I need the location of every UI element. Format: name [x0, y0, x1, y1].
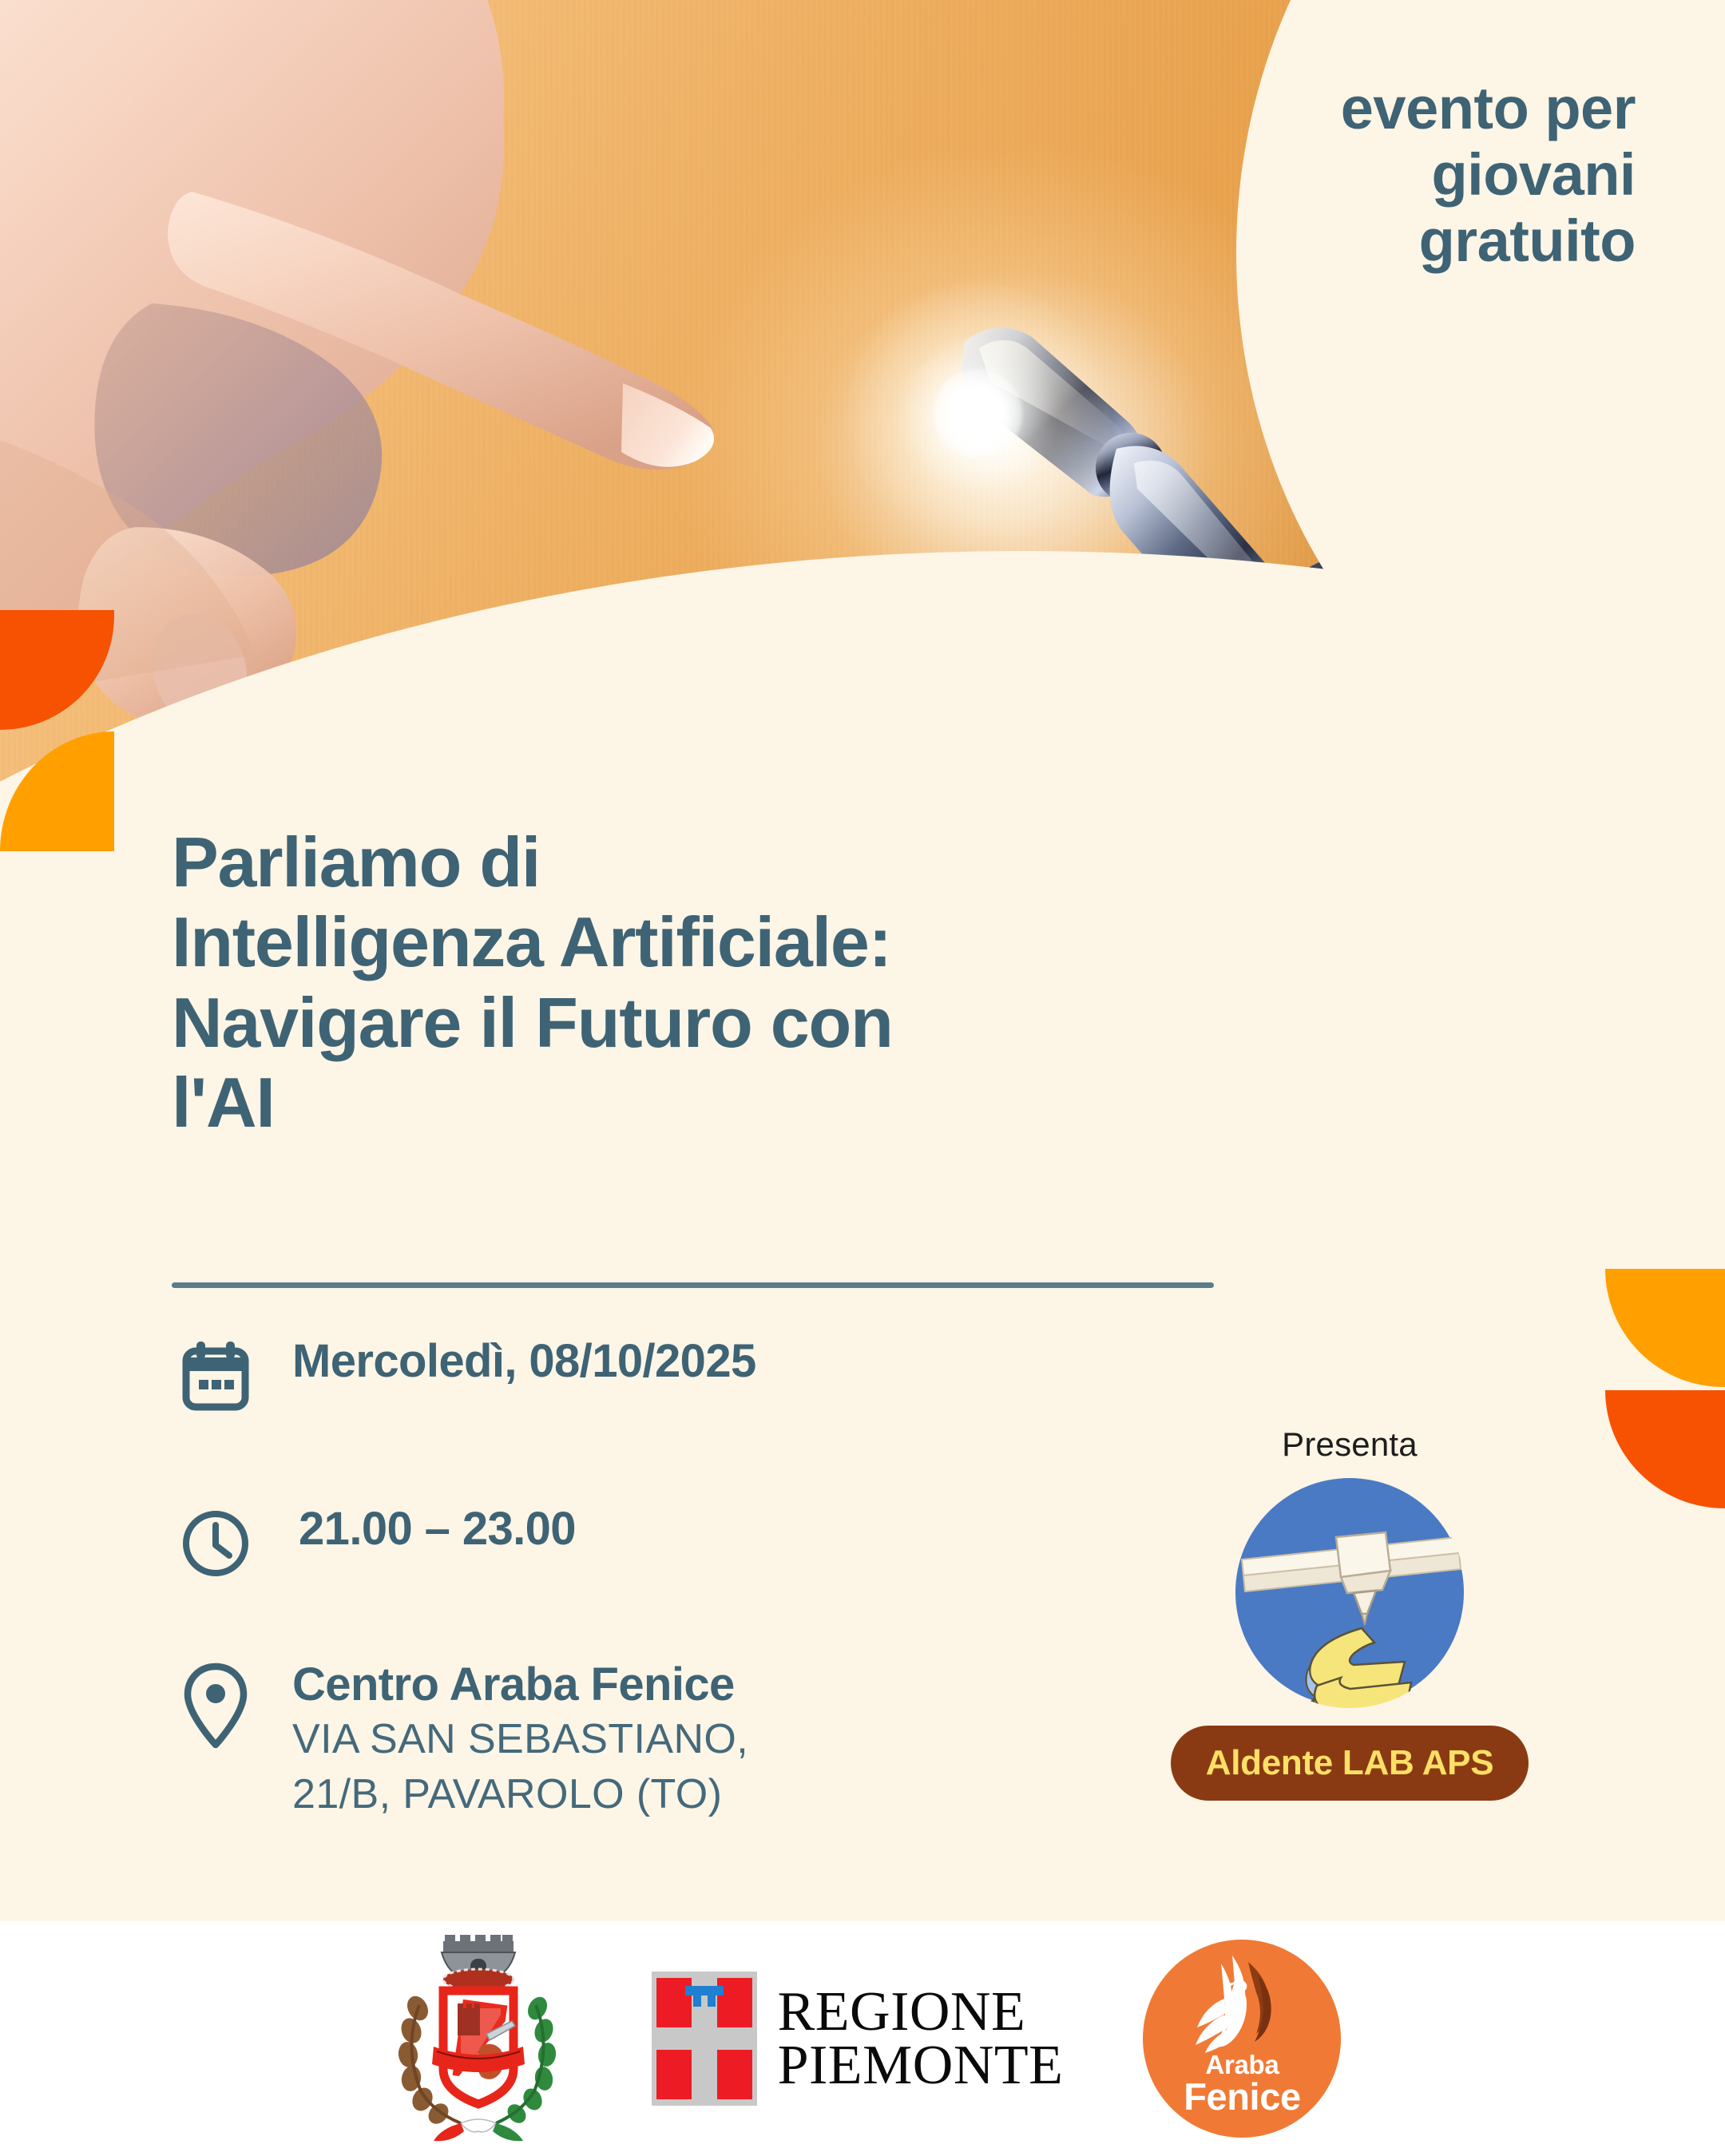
location-pin-icon	[177, 1667, 254, 1744]
detail-row-time: 21.00 – 23.00	[177, 1505, 576, 1582]
phoenix-icon	[1189, 1954, 1295, 2056]
kicker-line-2: giovani	[1061, 142, 1636, 208]
event-date: Mercoledì, 08/10/2025	[292, 1338, 756, 1386]
regione-line-1: REGIONE	[778, 1985, 1064, 2039]
event-time: 21.00 – 23.00	[292, 1505, 576, 1554]
kicker-text: evento per giovani gratuito	[1061, 76, 1636, 275]
title-divider	[172, 1282, 1214, 1288]
presenta-label: Presenta	[1282, 1425, 1418, 1464]
araba-fenice-logo: Araba Fenice	[1143, 1940, 1341, 2138]
venue-address-line-1: VIA SAN SEBASTIANO,	[292, 1714, 748, 1765]
araba-fenice-line-2: Fenice	[1184, 2078, 1301, 2117]
detail-row-date: Mercoledì, 08/10/2025	[177, 1338, 756, 1414]
comune-coat-of-arms	[384, 1935, 572, 2142]
poster-root: evento per giovani gratuito Parliamo di …	[0, 0, 1725, 2156]
regione-piemonte-text: REGIONE PIEMONTE	[778, 1985, 1064, 2092]
regione-piemonte-logo: REGIONE PIEMONTE	[652, 1972, 1064, 2106]
organiser-badge: Aldente LAB APS	[1171, 1726, 1529, 1801]
calendar-icon	[177, 1338, 254, 1414]
touch-spark-core	[933, 369, 1022, 458]
kicker-line-1: evento per	[1061, 76, 1636, 142]
regione-line-2: PIEMONTE	[778, 2039, 1064, 2092]
detail-row-place: Centro Araba Fenice VIA SAN SEBASTIANO, …	[177, 1661, 748, 1821]
venue-address-line-2: 21/B, PAVAROLO (TO)	[292, 1770, 748, 1820]
title-line-4: l'AI	[172, 1063, 1234, 1143]
footer-logo-bar: REGIONE PIEMONTE	[0, 1921, 1725, 2156]
kicker-line-3: gratuito	[1061, 208, 1636, 275]
venue-name: Centro Araba Fenice	[292, 1661, 748, 1710]
title-line-2: Intelligenza Artificiale:	[172, 902, 1234, 982]
aldente-lab-logo	[1234, 1476, 1465, 1708]
title-line-1: Parliamo di	[172, 822, 1234, 902]
organiser-block: Presenta Aldente LAB APS	[1190, 1425, 1509, 1801]
clock-icon	[177, 1505, 254, 1582]
title-line-3: Navigare il Futuro con	[172, 983, 1234, 1063]
page-title: Parliamo di Intelligenza Artificiale: Na…	[172, 822, 1234, 1143]
